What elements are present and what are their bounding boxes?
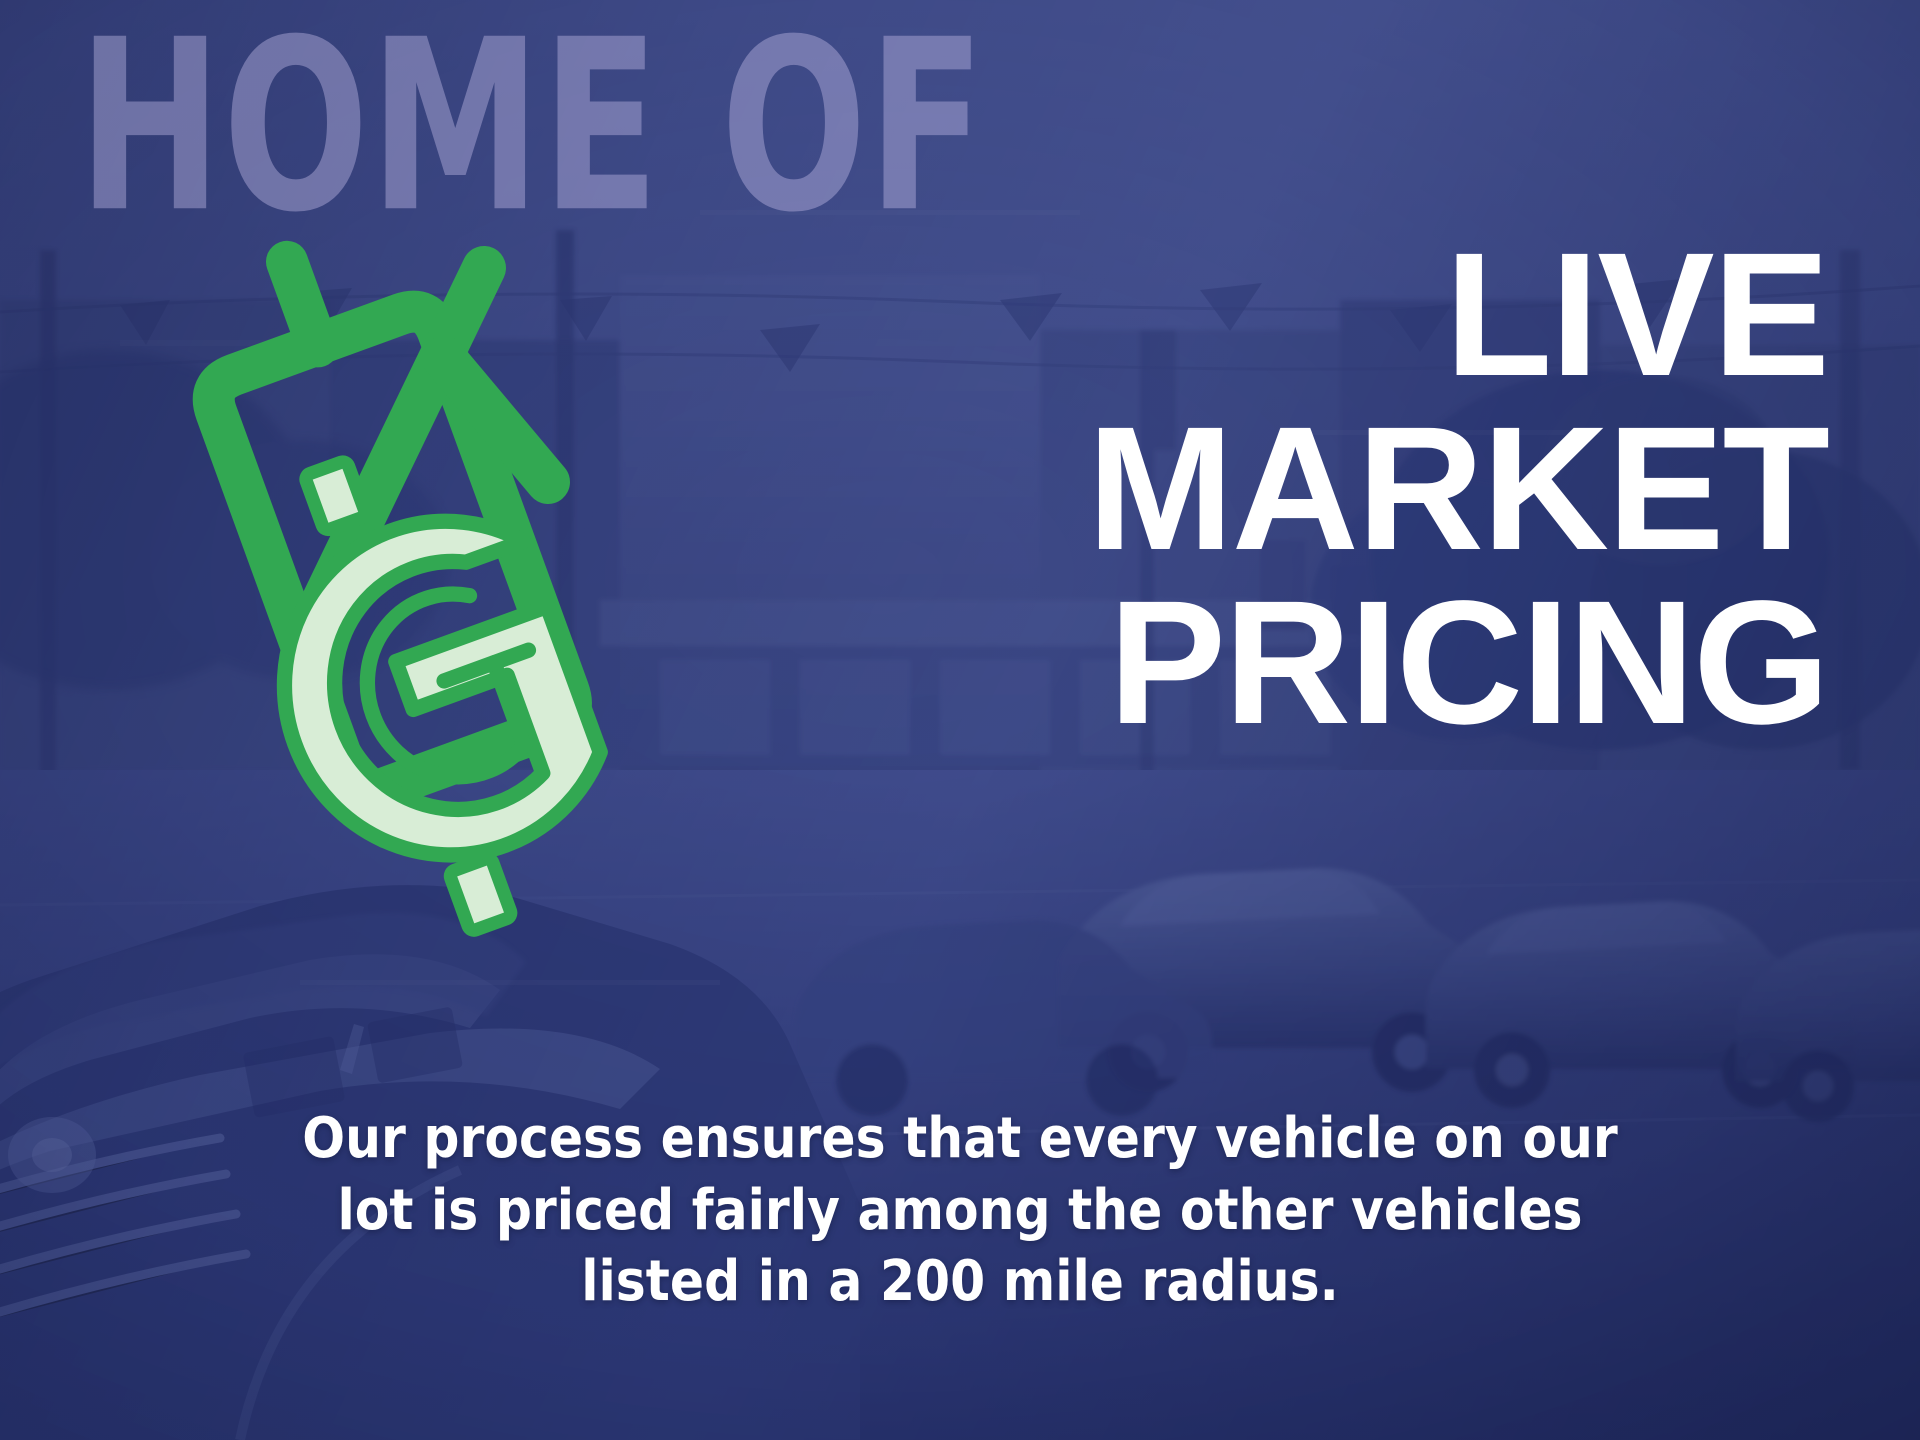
tag-stem bbox=[287, 262, 318, 347]
price-tag-logo bbox=[112, 182, 672, 882]
promo-poster: HOME OF bbox=[0, 0, 1920, 1440]
headline-line-2: MARKET bbox=[1087, 402, 1828, 576]
body-copy-line-3: listed in a 200 mile radius. bbox=[96, 1246, 1824, 1318]
body-copy: Our process ensures that every vehicle o… bbox=[96, 1103, 1824, 1318]
headline: LIVE MARKET PRICING bbox=[1087, 228, 1828, 751]
body-copy-line-2: lot is priced fairly among the other veh… bbox=[96, 1175, 1824, 1247]
headline-line-1: LIVE bbox=[1087, 228, 1828, 402]
body-copy-line-1: Our process ensures that every vehicle o… bbox=[96, 1103, 1824, 1175]
headline-line-3: PRICING bbox=[1087, 576, 1828, 750]
